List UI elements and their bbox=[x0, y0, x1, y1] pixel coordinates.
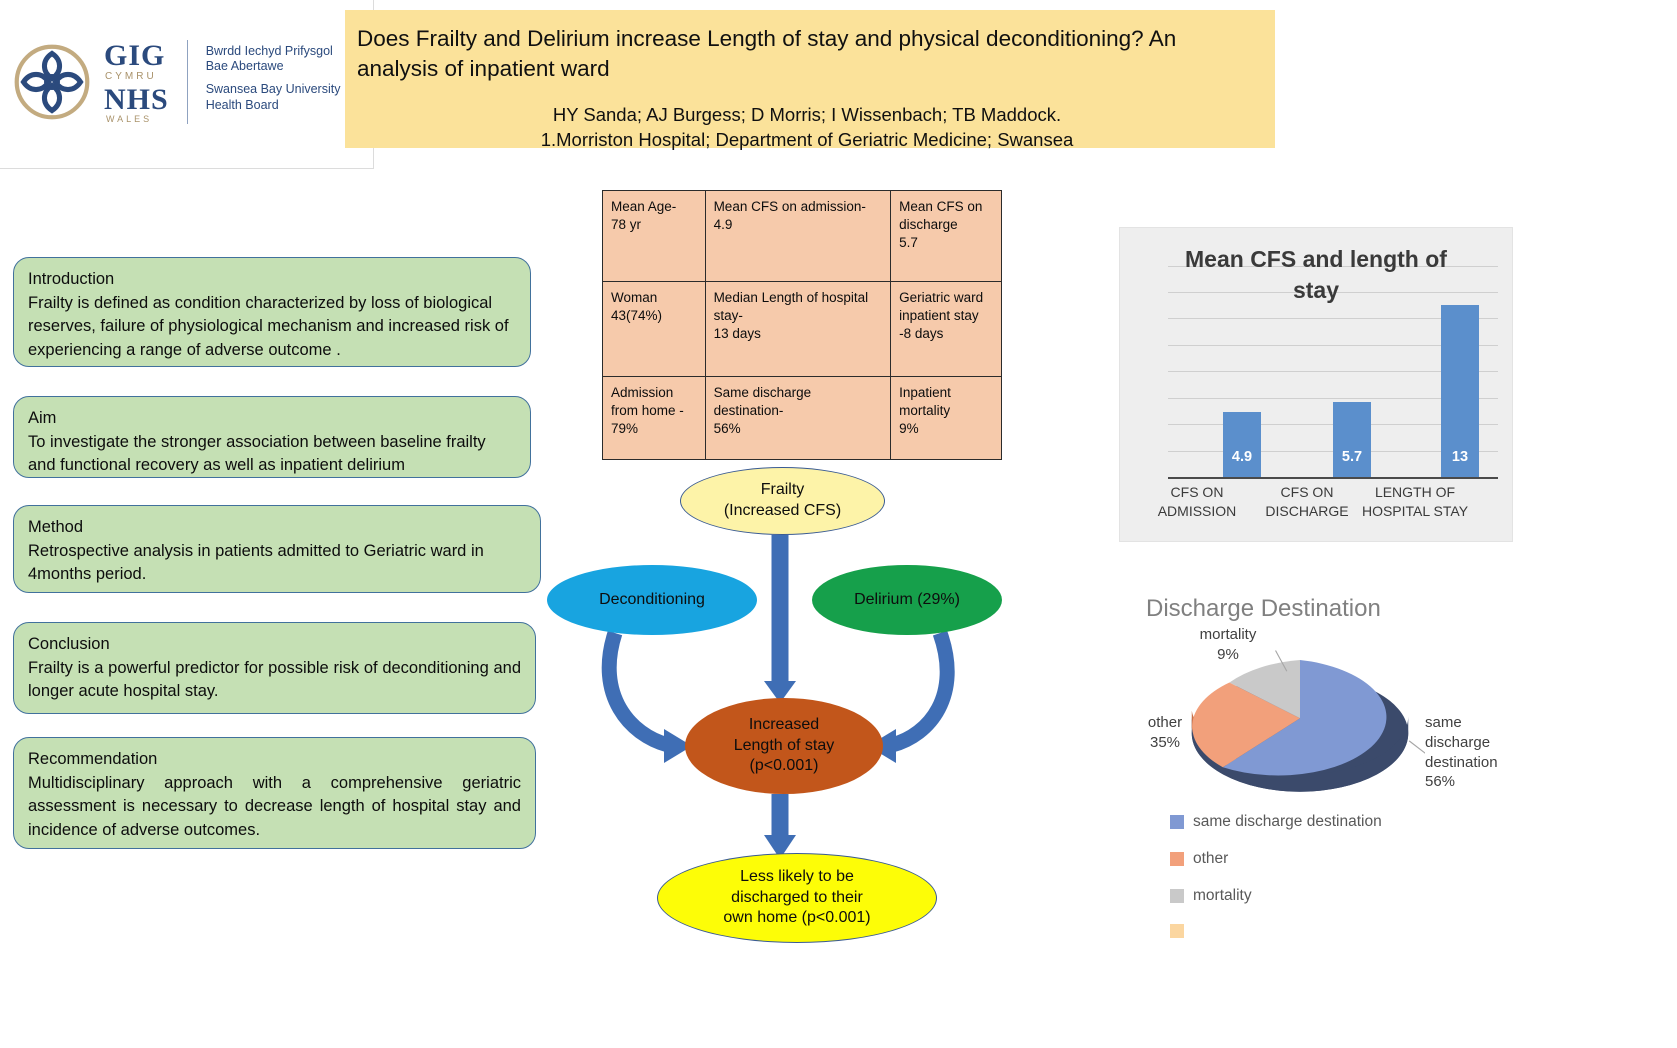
bar-category-label-admission: CFS ON ADMISSION bbox=[1142, 483, 1252, 521]
bar-value-label: 4.9 bbox=[1232, 449, 1252, 465]
flow-node-discharge-line1: Less likely to be bbox=[740, 868, 854, 885]
bar-category-label-length-of-stay: LENGTH OF HOSPITAL STAY bbox=[1360, 483, 1470, 521]
section-box-method: Method Retrospective analysis in patient… bbox=[13, 505, 541, 593]
flow-node-delirium: Delirium (29%) bbox=[812, 565, 1002, 635]
legend-swatch-icon bbox=[1170, 889, 1184, 903]
gig-word: GIG bbox=[104, 41, 169, 71]
table-cell: Mean CFS on admission-4.9 bbox=[705, 191, 891, 282]
nhs-wales-subtitle: WALES bbox=[106, 115, 169, 124]
section-heading-method: Method bbox=[28, 516, 526, 540]
pie-callout-other-label: other bbox=[1128, 713, 1202, 733]
legend-label: mortality bbox=[1193, 887, 1252, 905]
section-box-conclusion: Conclusion Frailty is a powerful predict… bbox=[13, 622, 536, 714]
pie-chart-title: Discharge Destination bbox=[1146, 595, 1381, 623]
flow-node-discharge-line3: own home (p<0.001) bbox=[723, 909, 870, 926]
table-cell: Same discharge destination-56% bbox=[705, 377, 891, 460]
legend-item-extra bbox=[1170, 924, 1382, 938]
flow-node-length-of-stay: Increased Length of stay (p<0.001) bbox=[685, 698, 883, 794]
section-box-introduction: Introduction Frailty is defined as condi… bbox=[13, 257, 531, 367]
legend-label: other bbox=[1193, 850, 1228, 868]
gig-cymru-subtitle: CYMRU bbox=[105, 72, 169, 82]
hb-line-1: Bwrdd Iechyd Prifysgol bbox=[206, 44, 341, 60]
pie-callout-other: other 35% bbox=[1128, 713, 1202, 753]
bar-value-label: 13 bbox=[1452, 449, 1468, 465]
nhs-logo: GIG CYMRU NHS WALES Bwrdd Iechyd Prifysg… bbox=[10, 40, 340, 124]
arrow-delirium-to-los bbox=[892, 633, 947, 745]
legend-swatch-icon bbox=[1170, 852, 1184, 866]
author-block: HY Sanda; AJ Burgess; D Morris; I Wissen… bbox=[357, 102, 1257, 153]
table-row: Mean Age-78 yr Mean CFS on admission-4.9… bbox=[603, 191, 1002, 282]
flow-node-los-line2: Length of stay bbox=[734, 737, 835, 754]
pie-callout-same-label: same discharge destination bbox=[1425, 713, 1529, 772]
flow-node-discharge-line2: discharged to their bbox=[731, 889, 863, 906]
hb-line-2: Bae Abertawe bbox=[206, 59, 341, 75]
bar-cfs-on-discharge: 5.7 bbox=[1333, 402, 1371, 477]
nhs-celtic-knot-icon bbox=[10, 40, 94, 124]
health-board-name: Bwrdd Iechyd Prifysgol Bae Abertawe Swan… bbox=[206, 44, 341, 121]
legend-item-same-discharge: same discharge destination bbox=[1170, 813, 1382, 831]
flow-node-deconditioning: Deconditioning bbox=[547, 565, 757, 635]
table-cell: Median Length of hospital stay-13 days bbox=[705, 282, 891, 377]
legend-item-mortality: mortality bbox=[1170, 887, 1382, 905]
summary-statistics-table: Mean Age-78 yr Mean CFS on admission-4.9… bbox=[602, 190, 1002, 460]
table-cell: Geriatric ward inpatient stay -8 days bbox=[891, 282, 1002, 377]
bar-chart: Mean CFS and length of stay 4.9 5.7 13 C… bbox=[1119, 227, 1513, 542]
table-row: Admission from home -79% Same discharge … bbox=[603, 377, 1002, 460]
section-box-aim: Aim To investigate the stronger associat… bbox=[13, 396, 531, 478]
section-heading-conclusion: Conclusion bbox=[28, 633, 521, 657]
legend-item-other: other bbox=[1170, 850, 1382, 868]
hb-line-4: Health Board bbox=[206, 98, 341, 114]
flow-node-delirium-label: Delirium (29%) bbox=[854, 590, 960, 611]
section-heading-recommendation: Recommendation bbox=[28, 748, 521, 772]
flow-node-frailty-line2: (Increased CFS) bbox=[724, 502, 841, 519]
pie-callout-mortality: mortality 9% bbox=[1180, 625, 1276, 665]
table-cell: Woman43(74%) bbox=[603, 282, 706, 377]
section-body-method: Retrospective analysis in patients admit… bbox=[28, 540, 526, 587]
authors-line: HY Sanda; AJ Burgess; D Morris; I Wissen… bbox=[357, 102, 1257, 128]
pie-chart-legend: same discharge destination other mortali… bbox=[1170, 813, 1382, 957]
flow-node-deconditioning-label: Deconditioning bbox=[599, 590, 705, 611]
legend-swatch-icon bbox=[1170, 924, 1184, 938]
section-body-introduction: Frailty is defined as condition characte… bbox=[28, 292, 516, 363]
pie-chart-graphic bbox=[1175, 643, 1425, 803]
flow-node-los-line3: (p<0.001) bbox=[750, 757, 819, 774]
page-title: Does Frailty and Delirium increase Lengt… bbox=[357, 24, 1257, 84]
bar-chart-x-axis bbox=[1168, 477, 1498, 479]
bar-value-label: 5.7 bbox=[1342, 449, 1362, 465]
logo-divider bbox=[187, 40, 188, 124]
pie-chart: Discharge Destination mortality 9% other… bbox=[1120, 585, 1560, 945]
pie-callout-same-value: 56% bbox=[1425, 772, 1529, 792]
bar-category-label-discharge: CFS ON DISCHARGE bbox=[1252, 483, 1362, 521]
table-cell: Admission from home -79% bbox=[603, 377, 706, 460]
affiliation-line: 1.Morriston Hospital; Department of Geri… bbox=[357, 127, 1257, 153]
pie-callout-other-value: 35% bbox=[1128, 733, 1202, 753]
section-body-conclusion: Frailty is a powerful predictor for poss… bbox=[28, 657, 521, 704]
flow-node-frailty: Frailty (Increased CFS) bbox=[680, 467, 885, 535]
section-body-recommendation: Multidisciplinary approach with a compre… bbox=[28, 772, 521, 843]
frailty-flowchart: Frailty (Increased CFS) Deconditioning D… bbox=[540, 455, 1010, 945]
section-body-aim: To investigate the stronger association … bbox=[28, 431, 516, 478]
table-cell: Mean Age-78 yr bbox=[603, 191, 706, 282]
pie-callout-same-discharge: same discharge destination 56% bbox=[1425, 713, 1529, 792]
bar-length-of-hospital-stay: 13 bbox=[1441, 305, 1479, 477]
section-box-recommendation: Recommendation Multidisciplinary approac… bbox=[13, 737, 536, 849]
nhs-logo-panel: GIG CYMRU NHS WALES Bwrdd Iechyd Prifysg… bbox=[0, 0, 374, 169]
flow-node-discharge-outcome: Less likely to be discharged to their ow… bbox=[657, 853, 937, 943]
pie-callout-mortality-label: mortality bbox=[1180, 625, 1276, 645]
gridline bbox=[1168, 266, 1498, 267]
bar-cfs-on-admission: 4.9 bbox=[1223, 412, 1261, 477]
pie-callout-mortality-value: 9% bbox=[1180, 645, 1276, 665]
bar-chart-plot-area: 4.9 5.7 13 bbox=[1168, 266, 1498, 477]
gridline bbox=[1168, 292, 1498, 293]
table-cell: Inpatient mortality9% bbox=[891, 377, 1002, 460]
legend-label: same discharge destination bbox=[1193, 813, 1382, 831]
section-heading-aim: Aim bbox=[28, 407, 516, 431]
hb-line-3: Swansea Bay University bbox=[206, 82, 341, 98]
table-cell: Mean CFS on discharge5.7 bbox=[891, 191, 1002, 282]
flow-node-los-line1: Increased bbox=[749, 716, 819, 733]
flow-node-frailty-line1: Frailty bbox=[761, 481, 805, 498]
arrow-deconditioning-to-los bbox=[609, 633, 668, 745]
title-banner: Does Frailty and Delirium increase Lengt… bbox=[345, 10, 1275, 148]
table-row: Woman43(74%) Median Length of hospital s… bbox=[603, 282, 1002, 377]
nhs-word: NHS bbox=[104, 85, 169, 115]
legend-swatch-icon bbox=[1170, 815, 1184, 829]
pie-leader-same bbox=[1409, 741, 1425, 760]
gig-nhs-wordmark: GIG CYMRU NHS WALES bbox=[104, 41, 169, 124]
section-heading-introduction: Introduction bbox=[28, 268, 516, 292]
